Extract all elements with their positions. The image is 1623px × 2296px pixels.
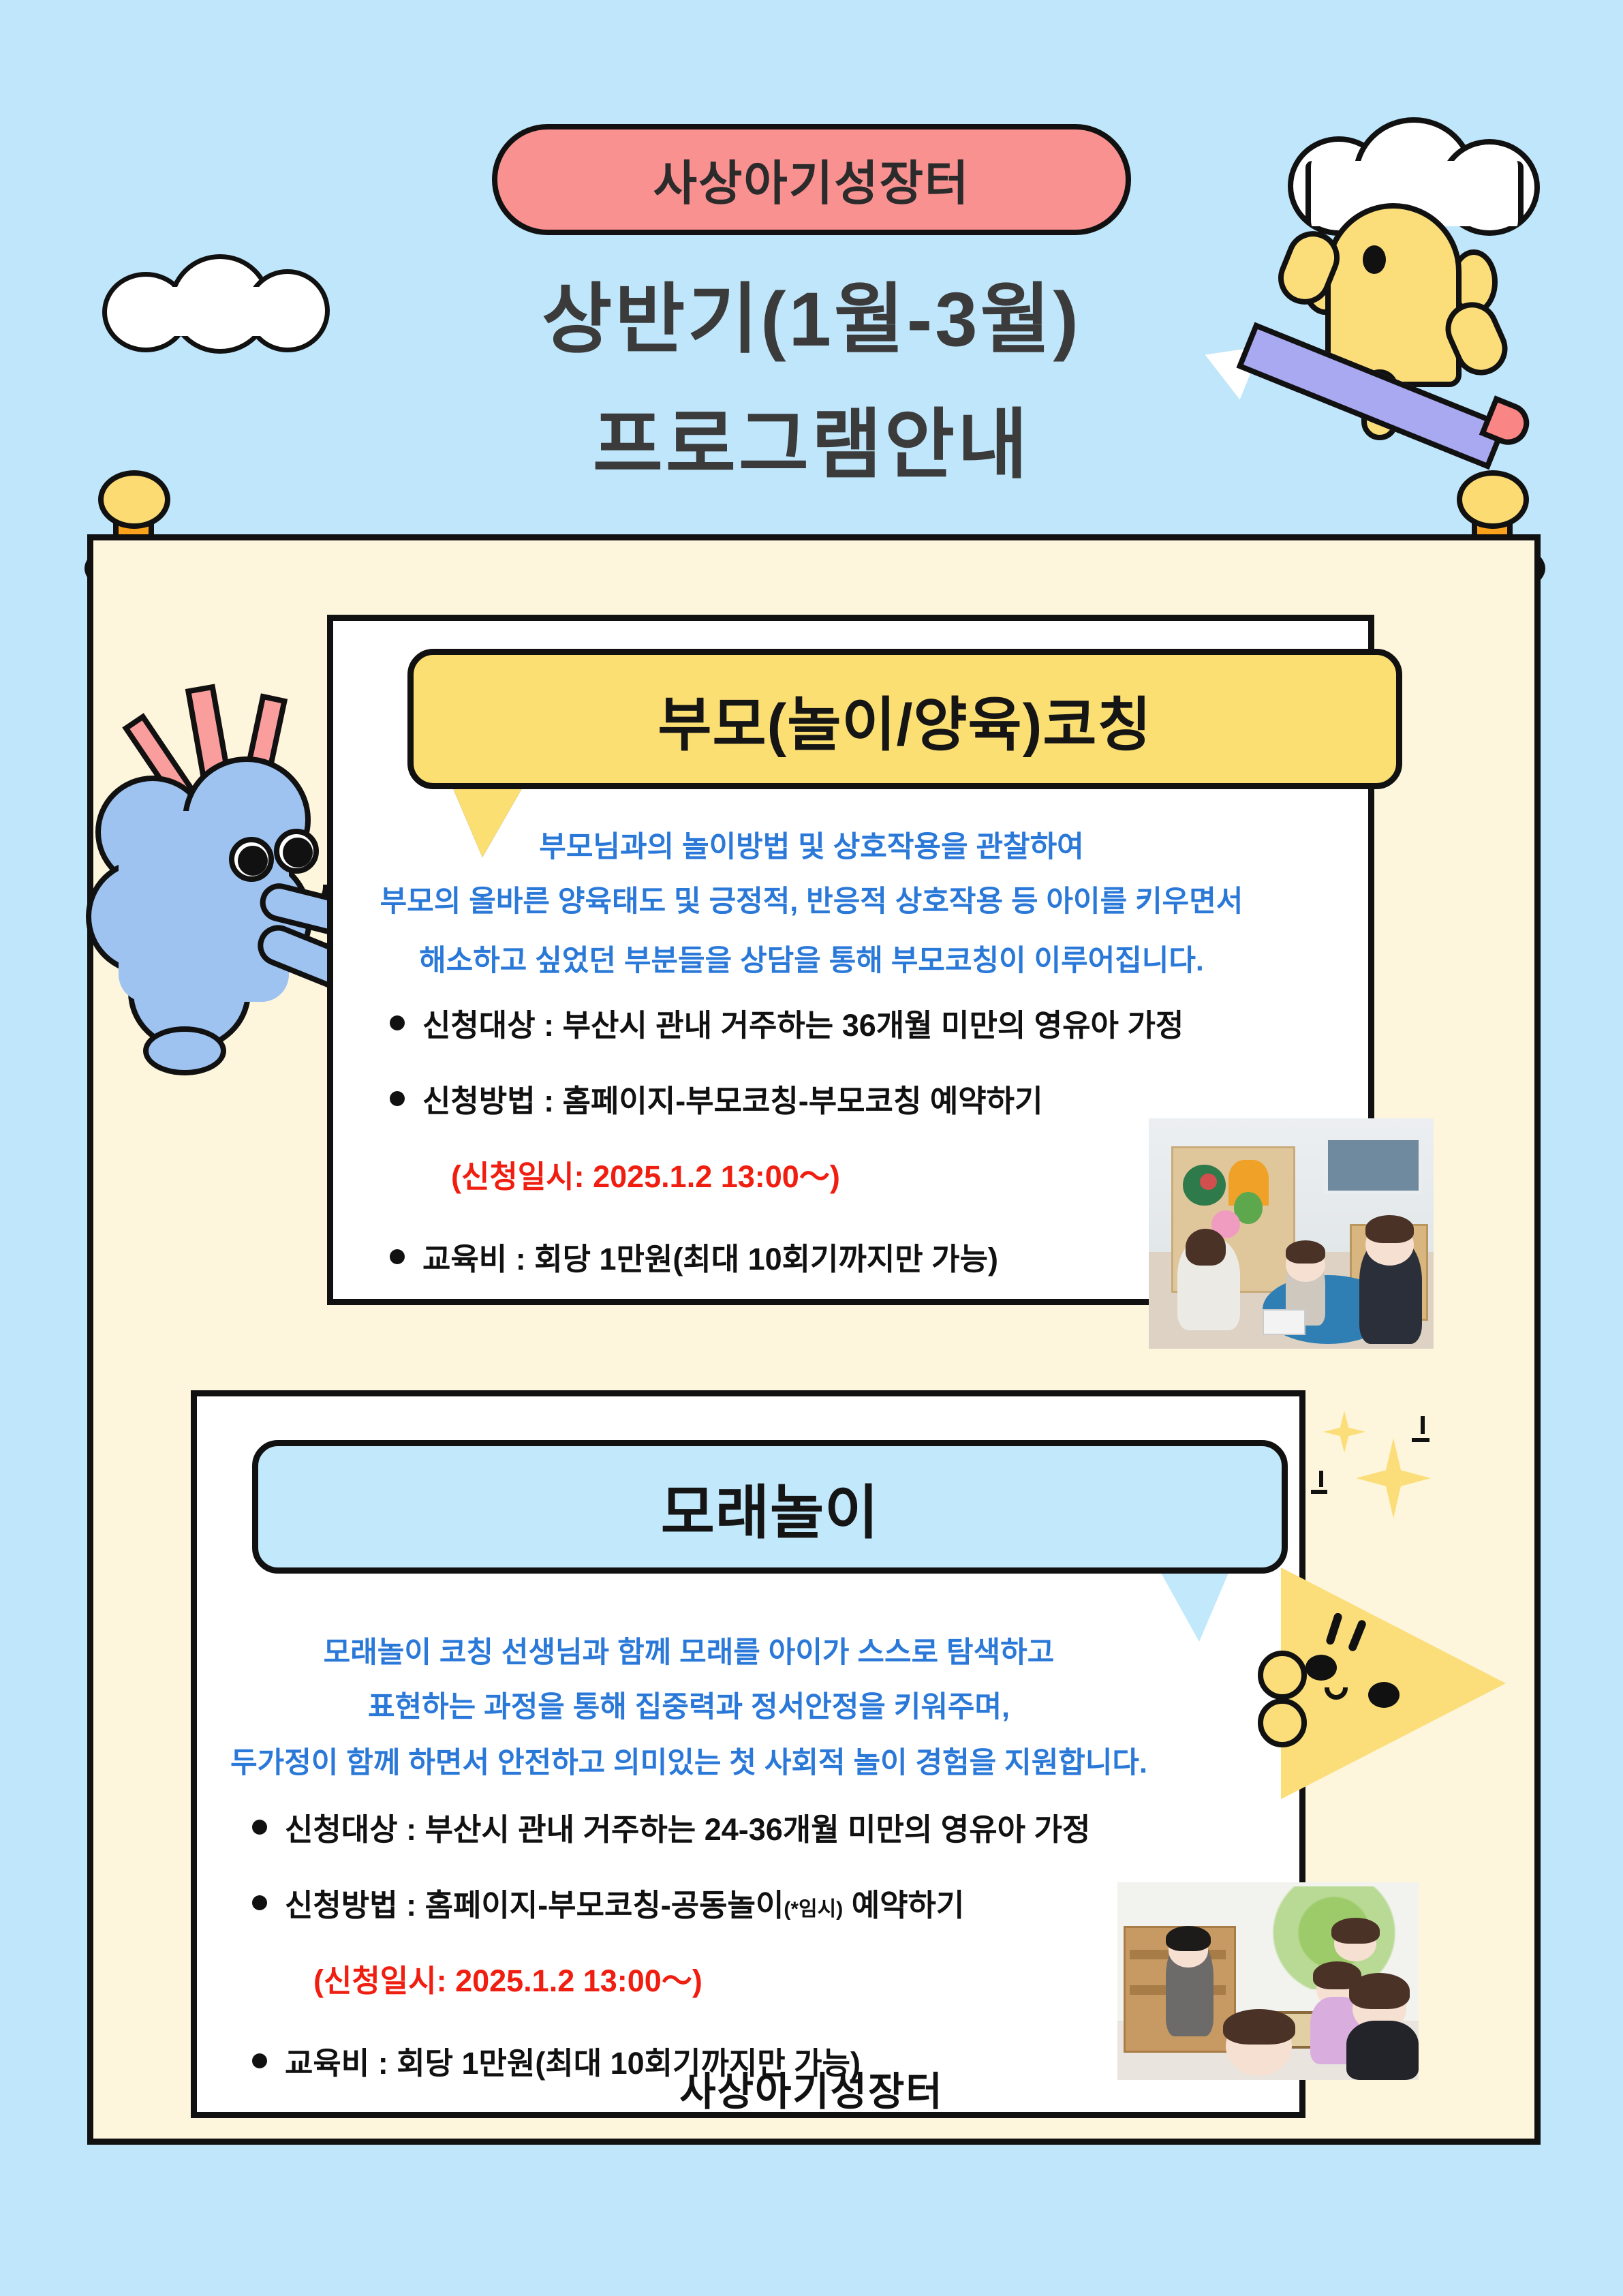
section2-bullet-2: 신청방법 : 홈페이지-부모코칭-공동놀이(*임시) 예약하기 [285, 1880, 964, 1925]
section1-bullet-2: 신청방법 : 홈페이지-부모코칭-부모코칭 예약하기 [422, 1076, 1042, 1120]
section1-bullet-1: 신청대상 : 부산시 관내 거주하는 36개월 미만의 영유아 가정 [422, 1000, 1184, 1045]
section2-note: (신청일시: 2025.1.2 13:00〜) [313, 1956, 702, 2000]
section2-bullet-2-tail: 예약하기 [843, 1888, 964, 1923]
list-item: 신청대상 : 부산시 관내 거주하는 24-36개월 미만의 영유아 가정 [252, 1805, 1090, 1849]
section1-desc-line3: 해소하고 싶었던 부분들을 상담을 통해 부모코칭이 이루어집니다. [0, 937, 1623, 979]
section2-bullet-1: 신청대상 : 부산시 관내 거주하는 24-36개월 미만의 영유아 가정 [285, 1805, 1090, 1849]
section2-title: 모래놀이 [661, 1465, 879, 1550]
parent-coaching-session-photo [1149, 1118, 1434, 1349]
sparkle-tick-icon [1412, 1438, 1429, 1442]
section1-note: (신청일시: 2025.1.2 13:00〜) [451, 1152, 840, 1196]
bullet-dot-icon [252, 1895, 267, 1910]
section1-title-bubble: 부모(놀이/양육)코칭 [407, 649, 1402, 789]
section1-title: 부모(놀이/양육)코칭 [658, 677, 1151, 762]
list-item: 교육비 : 회당 1만원(최대 10회기까지만 가능) [390, 1234, 1184, 1279]
yellow-pencil-rider-character [1199, 116, 1622, 450]
list-item: 신청대상 : 부산시 관내 거주하는 36개월 미만의 영유아 가정 [390, 1000, 1184, 1045]
character-eye [1368, 1682, 1400, 1708]
section2-bullet-2-main: 신청방법 : 홈페이지-부모코칭-공동놀이 [285, 1888, 784, 1923]
list-item: 신청방법 : 홈페이지-부모코칭-부모코칭 예약하기 [390, 1076, 1184, 1120]
brand-pill-label: 사상아기성장터 [653, 145, 970, 214]
section1-desc-line1: 부모님과의 놀이방법 및 상호작용을 관찰하여 [0, 823, 1623, 866]
list-item: (신청일시: 2025.1.2 13:00〜) [451, 1152, 1184, 1196]
list-item: (신청일시: 2025.1.2 13:00〜) [313, 1956, 1090, 2000]
section2-title-bubble: 모래놀이 [252, 1440, 1288, 1574]
bullet-dot-icon [390, 1015, 405, 1030]
list-item: 신청방법 : 홈페이지-부모코칭-공동놀이(*임시) 예약하기 [252, 1880, 1090, 1925]
sand-play-session-photo [1117, 1882, 1419, 2080]
section2-bullet-2-small: (*임시) [784, 1898, 843, 1920]
brand-pill: 사상아기성장터 [492, 124, 1131, 235]
section1-bullet-list: 신청대상 : 부산시 관내 거주하는 36개월 미만의 영유아 가정 신청방법 … [390, 1000, 1184, 1310]
section1-bullet-3: 교육비 : 회당 1만원(최대 10회기까지만 가능) [422, 1234, 998, 1279]
section1-desc-line2: 부모의 올바른 양육태도 및 긍정적, 반응적 상호작용 등 아이를 키우면서 [0, 878, 1623, 920]
sparkle-tick-icon [1311, 1490, 1327, 1494]
sparkle-tick-icon [1319, 1471, 1323, 1487]
bullet-dot-icon [390, 1249, 405, 1264]
character-eye [1305, 1655, 1337, 1681]
bullet-dot-icon [390, 1091, 405, 1106]
sparkle-tick-icon [1421, 1416, 1425, 1434]
yellow-triangle-character [1281, 1527, 1554, 1840]
bullet-dot-icon [252, 1820, 267, 1835]
footer-brand: 사상아기성장터 [0, 2060, 1623, 2117]
